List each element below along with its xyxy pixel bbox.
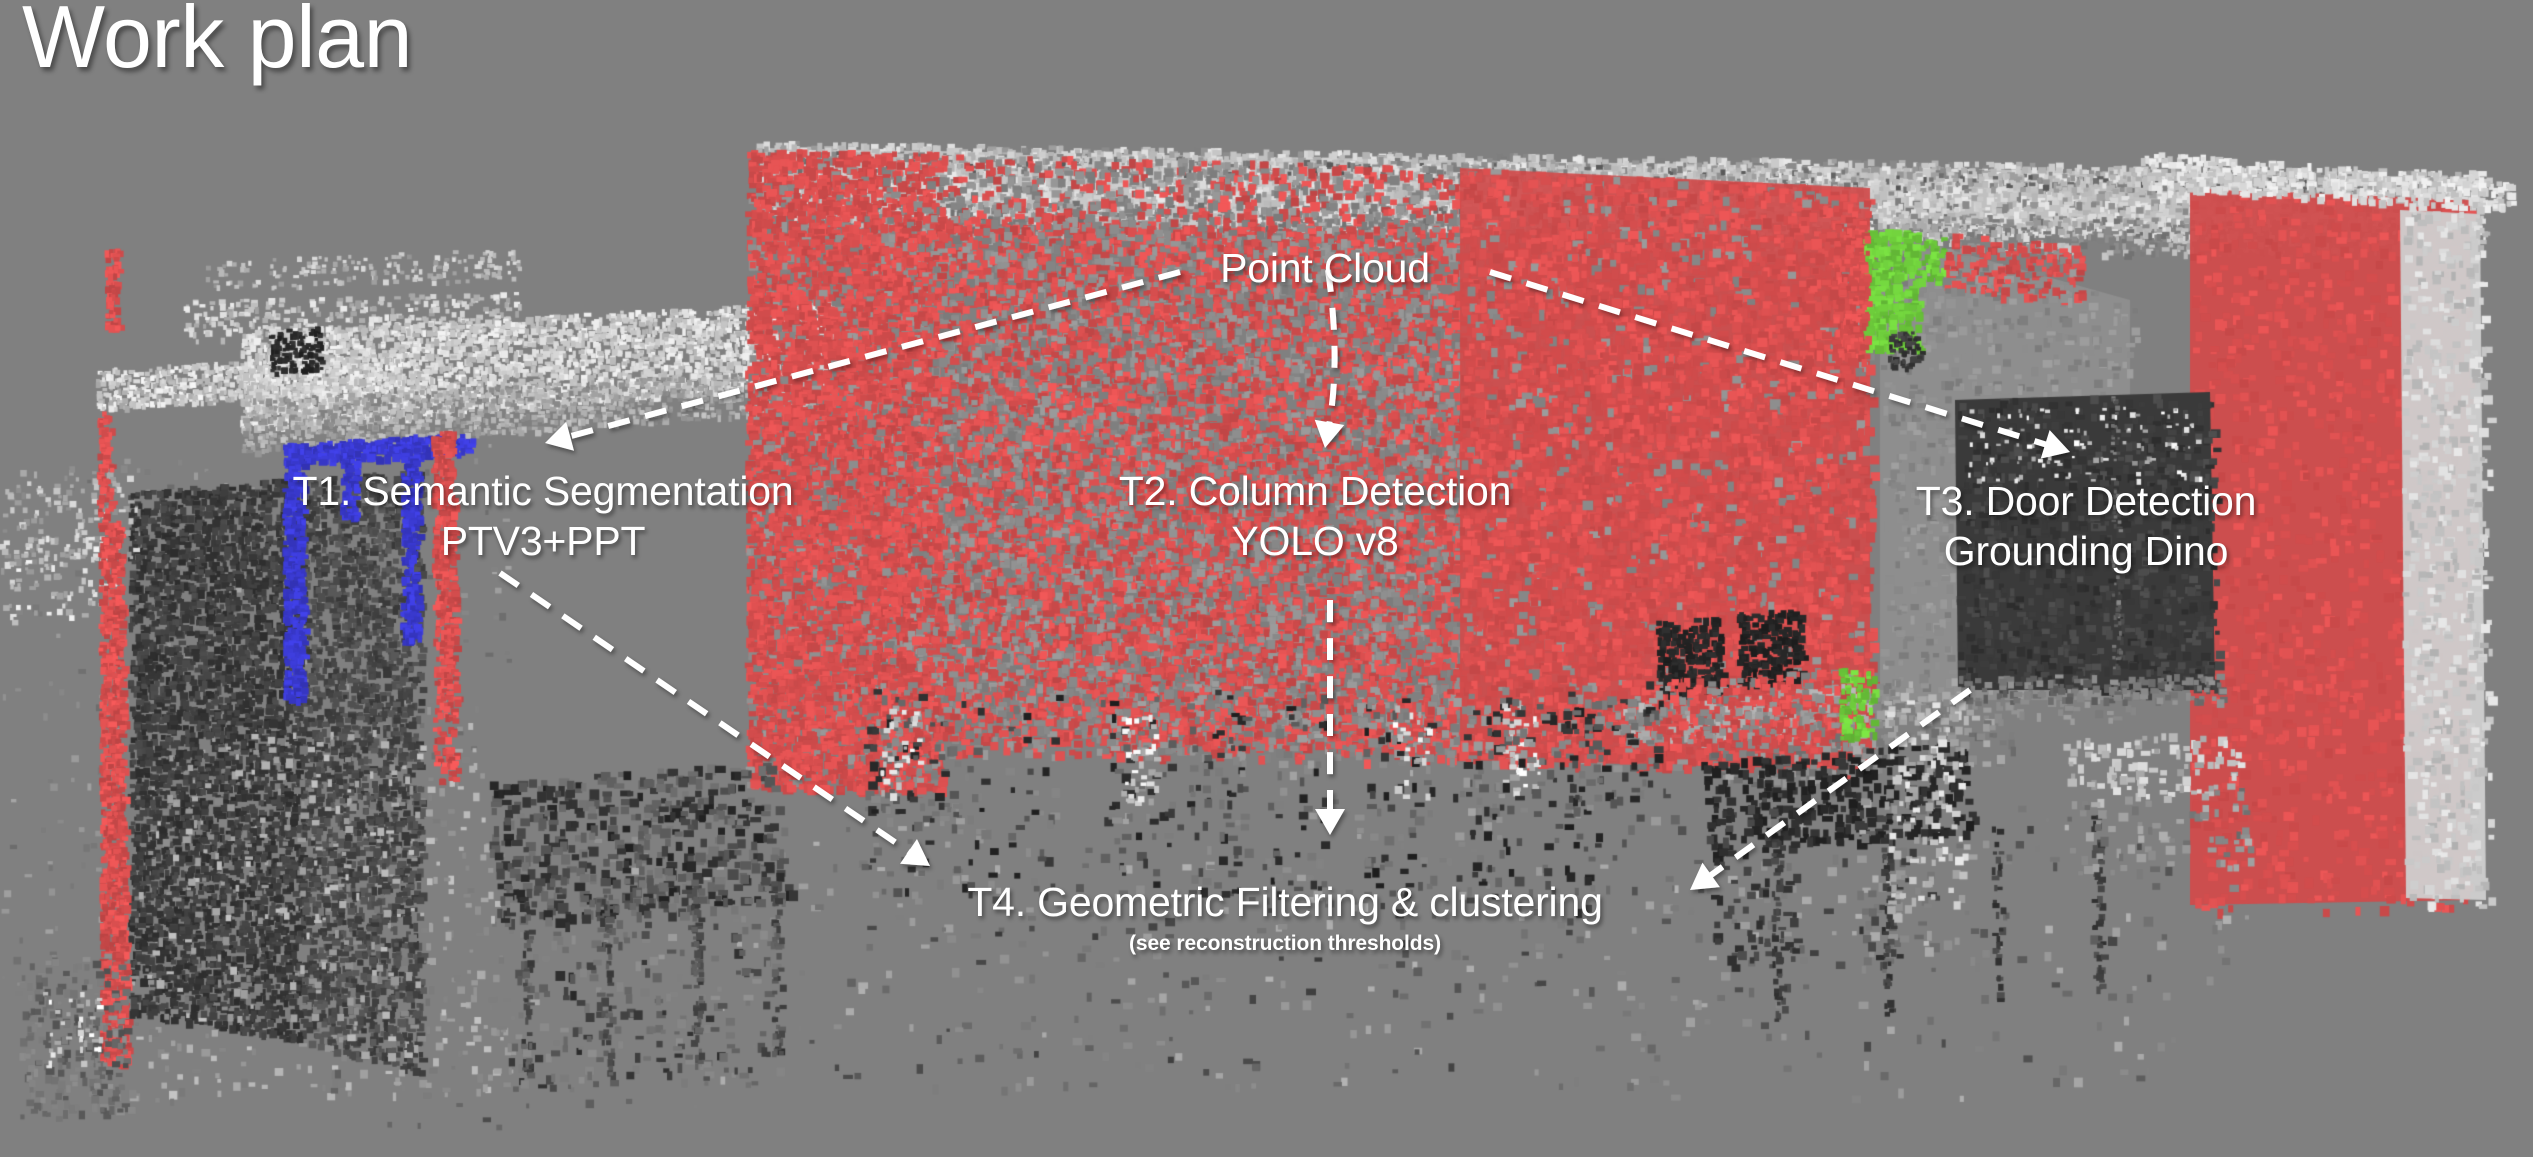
page-title: Work plan — [22, 0, 412, 88]
node-label-point-cloud: Point Cloud — [1220, 243, 1430, 293]
task-label-t2: T2. Column Detection YOLO v8 — [1119, 466, 1512, 566]
t1-method: PTV3+PPT — [293, 516, 794, 566]
t4-title: T4. Geometric Filtering & clustering — [967, 877, 1602, 927]
t2-title: T2. Column Detection — [1119, 466, 1512, 516]
t4-subtitle: (see reconstruction thresholds) — [967, 931, 1602, 957]
task-label-t3: T3. Door Detection Grounding Dino — [1916, 476, 2257, 576]
t3-title: T3. Door Detection — [1916, 476, 2257, 526]
t1-title: T1. Semantic Segmentation — [293, 466, 794, 516]
task-label-t1: T1. Semantic Segmentation PTV3+PPT — [293, 466, 794, 566]
task-label-t4: T4. Geometric Filtering & clustering (se… — [967, 877, 1602, 957]
t3-method: Grounding Dino — [1916, 526, 2257, 576]
slide-canvas: Work plan Point Cloud T1. Semantic Segme… — [0, 0, 2533, 1157]
t2-method: YOLO v8 — [1119, 516, 1512, 566]
point-cloud-render — [0, 0, 2533, 1157]
point-cloud-text: Point Cloud — [1220, 243, 1430, 293]
